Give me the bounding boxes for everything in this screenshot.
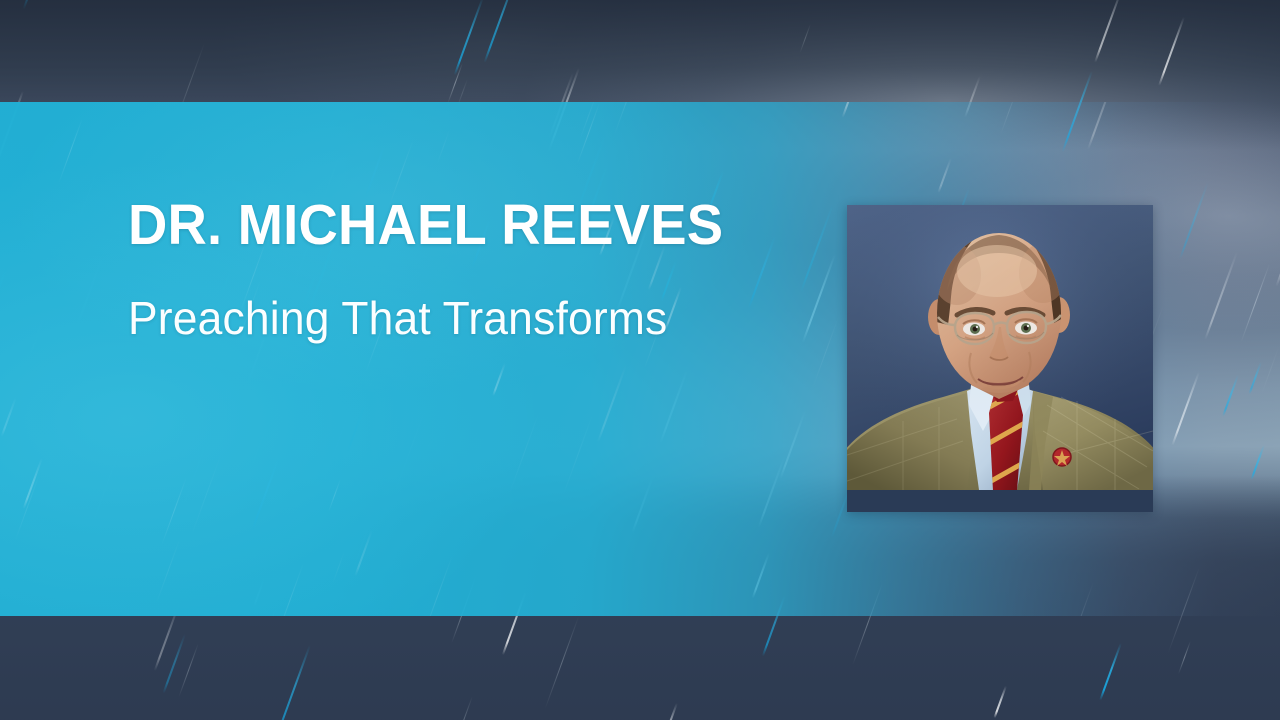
rain-streak — [597, 365, 627, 443]
rain-streak — [190, 453, 221, 537]
rain-streak — [276, 563, 304, 616]
portrait-caption-bar — [847, 490, 1153, 512]
portrait-illustration — [847, 205, 1153, 490]
rain-streak — [562, 411, 594, 498]
rain-streak — [15, 474, 41, 542]
rain-streak — [255, 609, 275, 616]
rain-streak — [1000, 102, 1018, 135]
rain-streak — [437, 130, 450, 164]
rain-streak — [421, 555, 453, 616]
rain-streak — [508, 410, 539, 494]
rain-streak — [938, 158, 953, 194]
speaker-name: DR. MICHAEL REEVES — [128, 196, 758, 255]
talk-subtitle: Preaching That Transforms — [128, 293, 765, 344]
rain-streak — [579, 102, 597, 142]
rain-streak — [614, 102, 637, 134]
rain-streak — [161, 477, 187, 546]
rain-streak — [812, 317, 839, 388]
portrait-photo — [847, 205, 1153, 490]
rain-streak — [492, 363, 506, 397]
rain-streak — [577, 103, 600, 164]
rain-streak — [332, 551, 345, 584]
rain-streak — [1066, 582, 1094, 616]
speaker-portrait — [847, 205, 1153, 512]
rain-streak — [156, 537, 181, 604]
rain-streak — [354, 530, 373, 577]
rain-streak — [1261, 345, 1280, 395]
rain-streak — [1087, 102, 1115, 150]
rain-streak — [251, 453, 281, 532]
rain-streak — [23, 458, 43, 509]
rain-streak — [328, 479, 341, 513]
title-text-block: DR. MICHAEL REEVES Preaching That Transf… — [128, 196, 788, 344]
rain-streak — [58, 118, 83, 184]
rain-streak — [365, 144, 386, 197]
rain-streak — [841, 102, 862, 118]
title-slide: DR. MICHAEL REEVES Preaching That Transf… — [0, 0, 1280, 720]
rain-streak — [1, 397, 17, 437]
